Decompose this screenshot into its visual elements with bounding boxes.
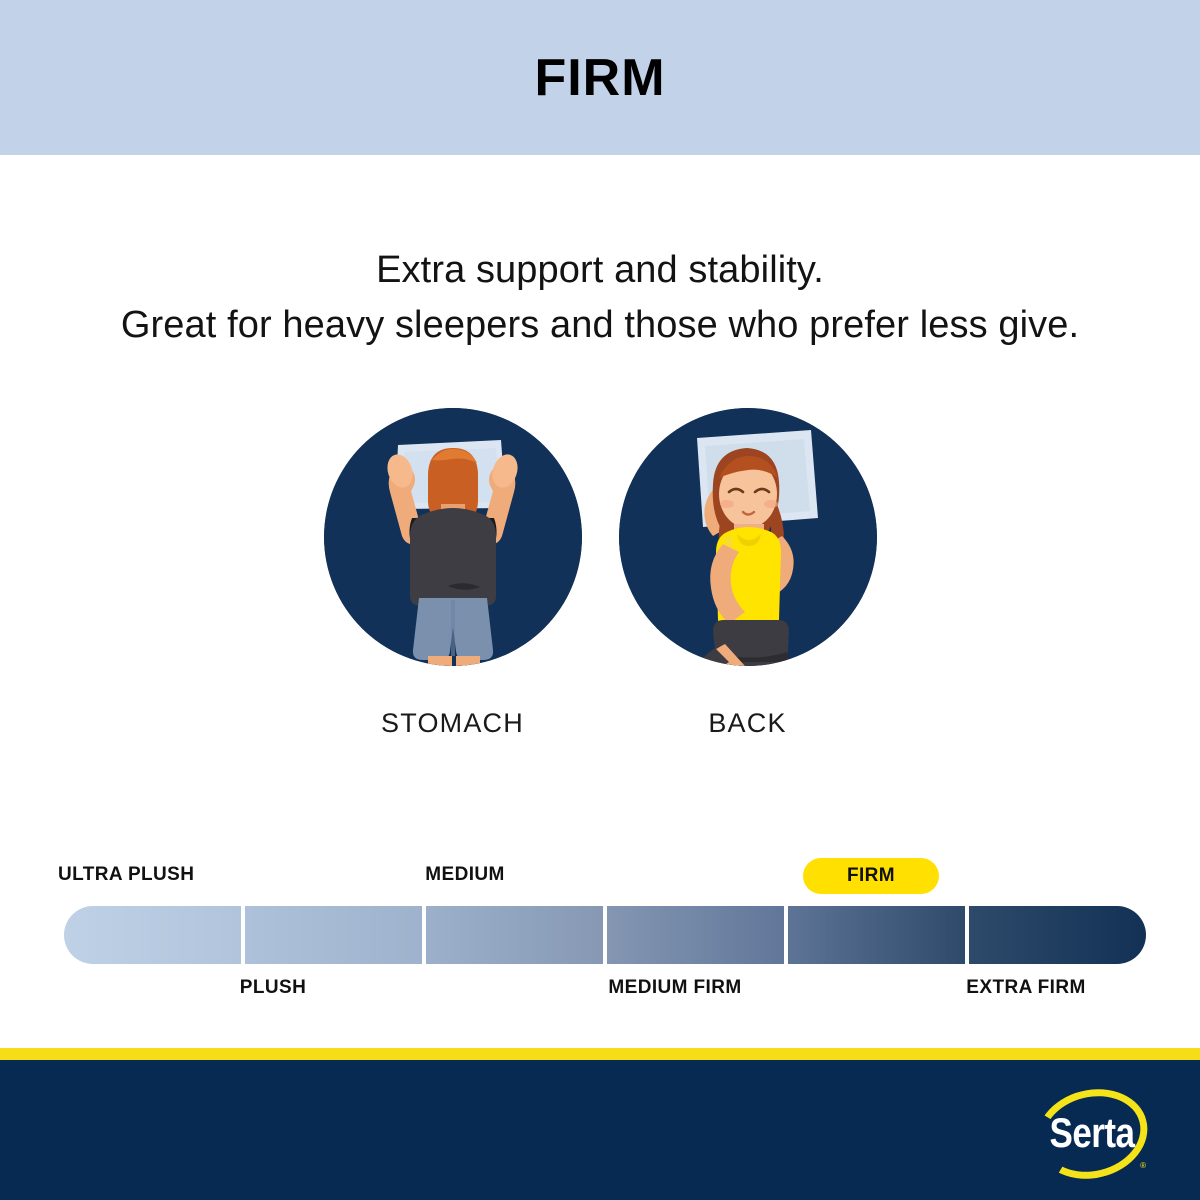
footer-yellow-stripe bbox=[0, 1048, 1200, 1060]
serta-logo-wordmark: Serta bbox=[1036, 1082, 1148, 1186]
scale-label-ultra-plush: ULTRA PLUSH bbox=[58, 864, 194, 886]
position-card-stomach: STOMACH bbox=[323, 408, 583, 739]
scale-segment-ultra-plush[interactable] bbox=[64, 906, 241, 964]
firmness-scale: ULTRA PLUSH MEDIUM FIRM PLUSH MEDIUM FIR… bbox=[58, 862, 1142, 1007]
header-banner: FIRM bbox=[0, 0, 1200, 155]
scale-labels-top: ULTRA PLUSH MEDIUM FIRM bbox=[58, 862, 1142, 894]
scale-label-medium: MEDIUM bbox=[425, 864, 504, 886]
person-sleeping-on-back-icon bbox=[619, 408, 877, 666]
scale-segment-medium-firm[interactable] bbox=[607, 906, 784, 964]
scale-segment-extra-firm[interactable] bbox=[969, 906, 1146, 964]
serta-logo: Serta ® bbox=[1036, 1090, 1148, 1178]
sleep-positions-group: STOMACH bbox=[0, 408, 1200, 739]
person-sleeping-on-stomach-icon bbox=[324, 408, 582, 666]
subtitle-block: Extra support and stability. Great for h… bbox=[0, 243, 1200, 353]
position-label-stomach: STOMACH bbox=[381, 708, 524, 739]
scale-segment-plush[interactable] bbox=[245, 906, 422, 964]
registered-trademark-mark: ® bbox=[1140, 1161, 1146, 1170]
page-title: FIRM bbox=[534, 52, 665, 104]
scale-bar[interactable] bbox=[64, 906, 1146, 964]
scale-label-plush: PLUSH bbox=[240, 977, 306, 999]
position-label-back: BACK bbox=[708, 708, 786, 739]
back-sleeper-illustration bbox=[619, 408, 877, 666]
scale-labels-bottom: PLUSH MEDIUM FIRM EXTRA FIRM bbox=[58, 975, 1142, 1005]
subtitle-line-2: Great for heavy sleepers and those who p… bbox=[0, 298, 1200, 353]
subtitle-line-1: Extra support and stability. bbox=[0, 243, 1200, 298]
scale-label-medium-firm: MEDIUM FIRM bbox=[608, 977, 741, 999]
scale-badge-firm[interactable]: FIRM bbox=[803, 858, 939, 894]
footer-bar bbox=[0, 1060, 1200, 1200]
scale-segment-firm[interactable] bbox=[788, 906, 965, 964]
stomach-sleeper-illustration bbox=[324, 408, 582, 666]
scale-label-extra-firm: EXTRA FIRM bbox=[966, 977, 1085, 999]
position-card-back: BACK bbox=[618, 408, 878, 739]
scale-segment-medium[interactable] bbox=[426, 906, 603, 964]
